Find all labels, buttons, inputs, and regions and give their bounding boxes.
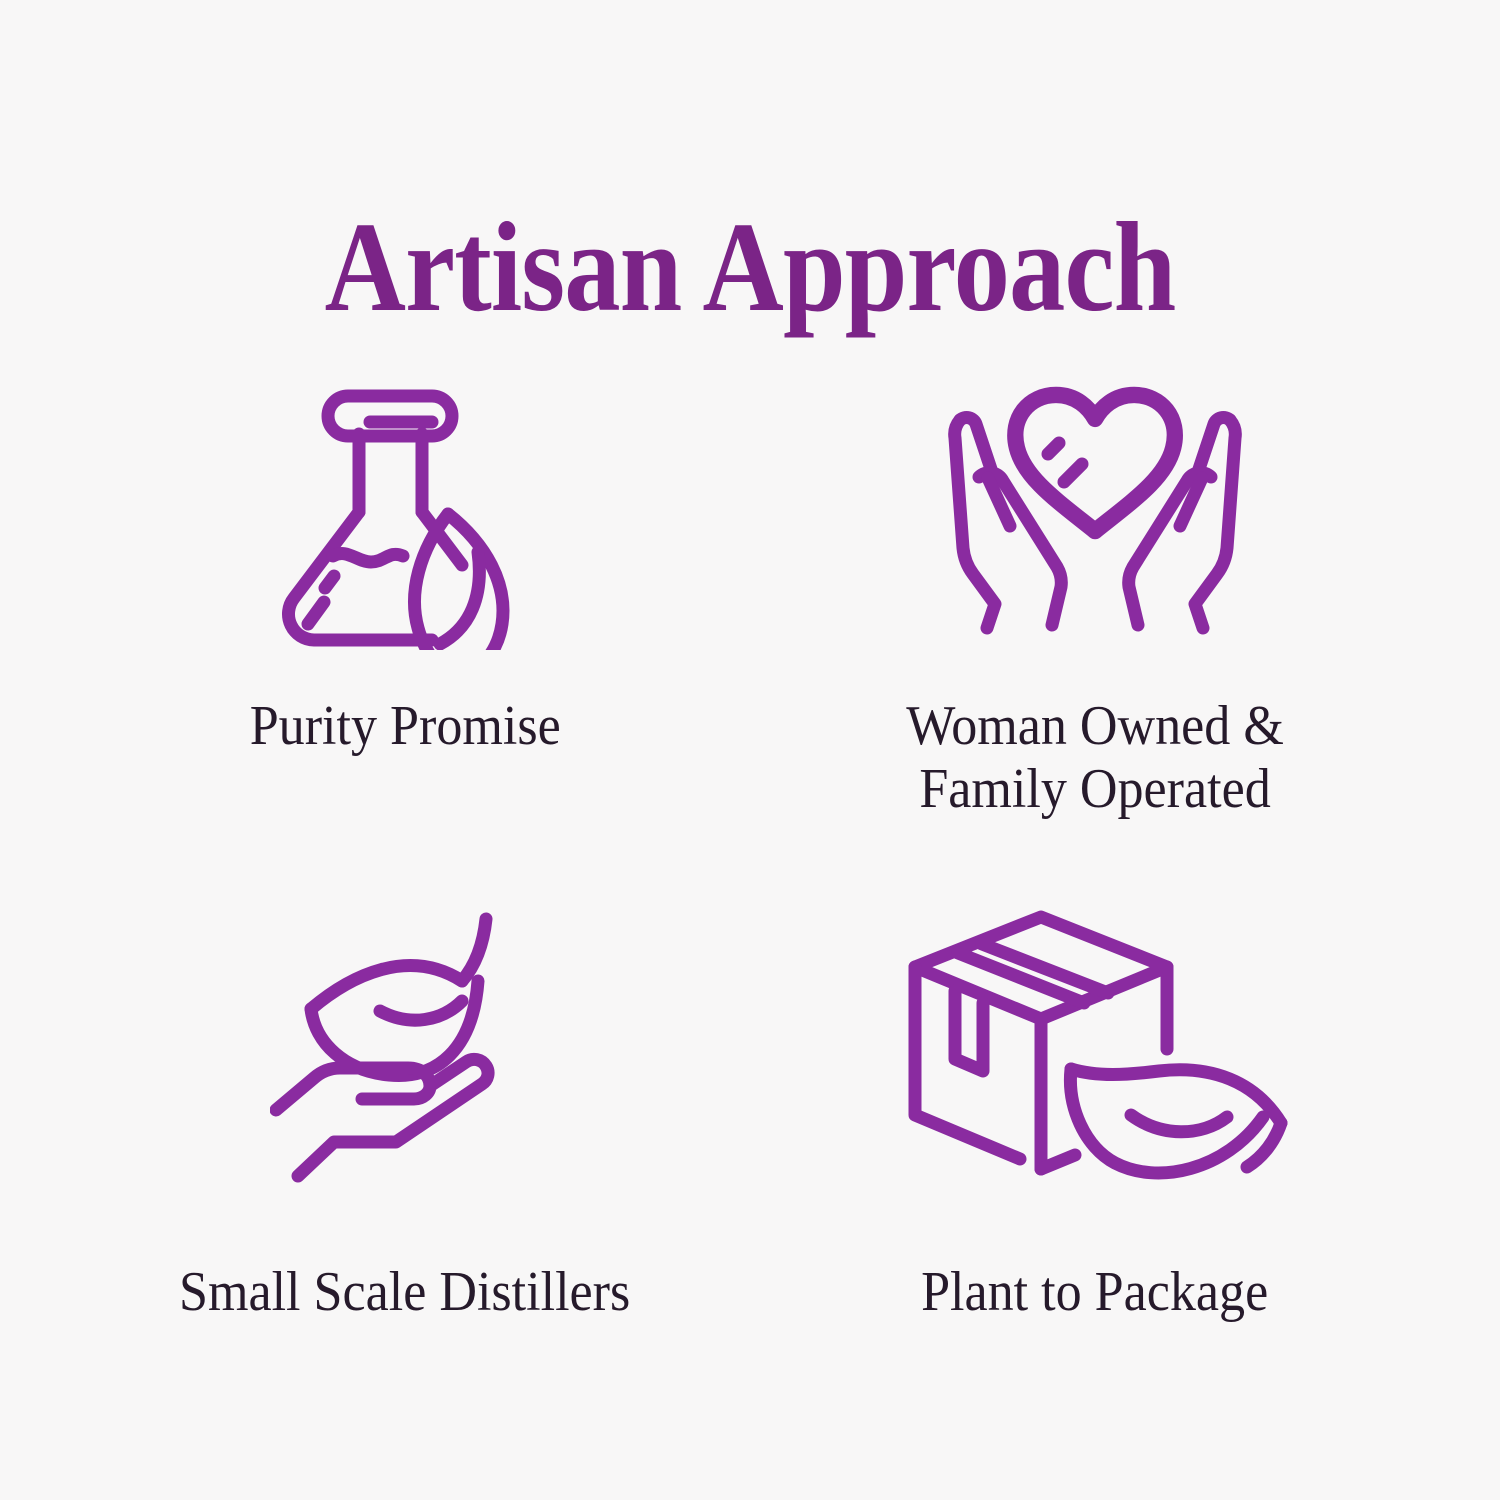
feature-label: Small Scale Distillers [179,1261,630,1324]
feature-label: Purity Promise [249,695,560,758]
flask-leaf-icon [60,355,750,655]
feature-item-purity-promise: Purity Promise [60,355,750,895]
feature-grid: Purity Promise [60,355,1440,1435]
feature-label-line-1: Plant to Package [921,1261,1268,1324]
feature-item-woman-owned: Woman Owned & Family Operated [750,355,1440,895]
leaf-in-hand-icon [60,895,750,1195]
feature-label-line-1: Small Scale Distillers [179,1261,630,1324]
feature-label: Plant to Package [921,1261,1268,1324]
feature-item-small-scale-distillers: Small Scale Distillers [60,895,750,1435]
feature-label: Woman Owned & Family Operated [906,695,1284,820]
hands-holding-heart-icon [750,355,1440,655]
artisan-approach-panel: Artisan Approach [0,0,1500,1500]
feature-label-line-1: Purity Promise [249,695,560,758]
feature-label-line-1: Woman Owned & [906,695,1284,758]
feature-item-plant-to-package: Plant to Package [750,895,1440,1435]
feature-label-line-2: Family Operated [906,758,1284,821]
package-box-leaf-icon [750,895,1440,1195]
page-title: Artisan Approach [90,194,1410,341]
